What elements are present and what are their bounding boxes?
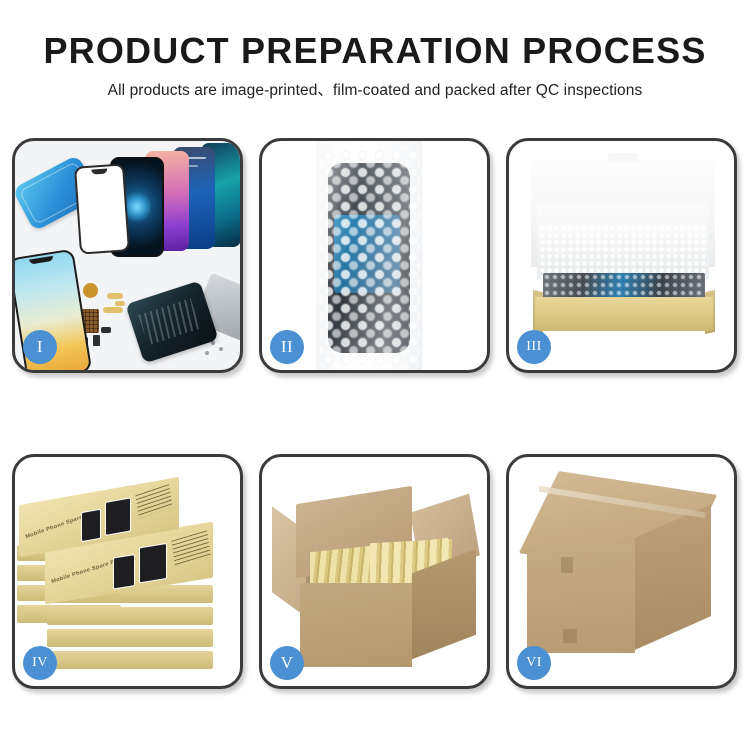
- page-subtitle: All products are image-printed、film-coat…: [0, 69, 750, 99]
- plastic-sheen: [316, 141, 422, 370]
- bracket-part-icon: [101, 327, 111, 333]
- step-panel-1[interactable]: I: [12, 138, 243, 373]
- carton-handle-slot: [561, 557, 573, 573]
- box-window-icon: [105, 497, 131, 536]
- mailer-front-panel: [535, 297, 713, 331]
- screw-part-icon: [219, 347, 223, 351]
- tempered-glass-icon: [74, 163, 130, 254]
- button-flex-part-icon: [107, 293, 123, 299]
- header: PRODUCT PREPARATION PROCESS All products…: [0, 0, 750, 99]
- box-spec-lines: [171, 530, 210, 566]
- carton-front-panel: [300, 583, 412, 667]
- step-badge-5: V: [270, 646, 304, 680]
- retail-box-edge: [47, 629, 213, 647]
- retail-box-edge: [47, 607, 213, 625]
- product-preparation-infographic: PRODUCT PREPARATION PROCESS All products…: [0, 0, 750, 750]
- speaker-part-icon: [83, 283, 98, 298]
- box-window-icon: [113, 554, 135, 589]
- box-window-icon: [81, 509, 101, 543]
- wrapped-screen-in-box-icon: [543, 273, 705, 299]
- step-badge-3: III: [517, 330, 551, 364]
- step-panel-5[interactable]: V: [259, 454, 490, 689]
- step-panel-2[interactable]: II: [259, 138, 490, 373]
- step-panel-3[interactable]: III: [506, 138, 737, 373]
- box-spec-lines: [135, 484, 172, 518]
- retail-box-stack: Mobile Phone Spare Parts Mobile Phone Sp…: [17, 475, 240, 675]
- step-badge-6: VI: [517, 646, 551, 680]
- volume-flex-part-icon: [115, 301, 125, 306]
- step-badge-2: II: [270, 330, 304, 364]
- box-window-icon: [139, 543, 167, 583]
- foam-liner-icon: [539, 225, 707, 279]
- step-badge-4: IV: [23, 646, 57, 680]
- antenna-flex-part-icon: [103, 307, 123, 313]
- carton-handle-slot: [563, 629, 577, 643]
- carton-front-panel: [527, 545, 635, 653]
- step-badge-1: I: [23, 330, 57, 364]
- retail-box-edge: [47, 651, 213, 669]
- sim-tray-part-icon: [93, 335, 100, 346]
- screw-part-icon: [205, 351, 209, 355]
- steps-grid: I II III: [12, 138, 738, 738]
- page-title: PRODUCT PREPARATION PROCESS: [0, 33, 750, 69]
- step-panel-4[interactable]: Mobile Phone Spare Parts Mobile Phone Sp…: [12, 454, 243, 689]
- step-panel-6[interactable]: VI: [506, 454, 737, 689]
